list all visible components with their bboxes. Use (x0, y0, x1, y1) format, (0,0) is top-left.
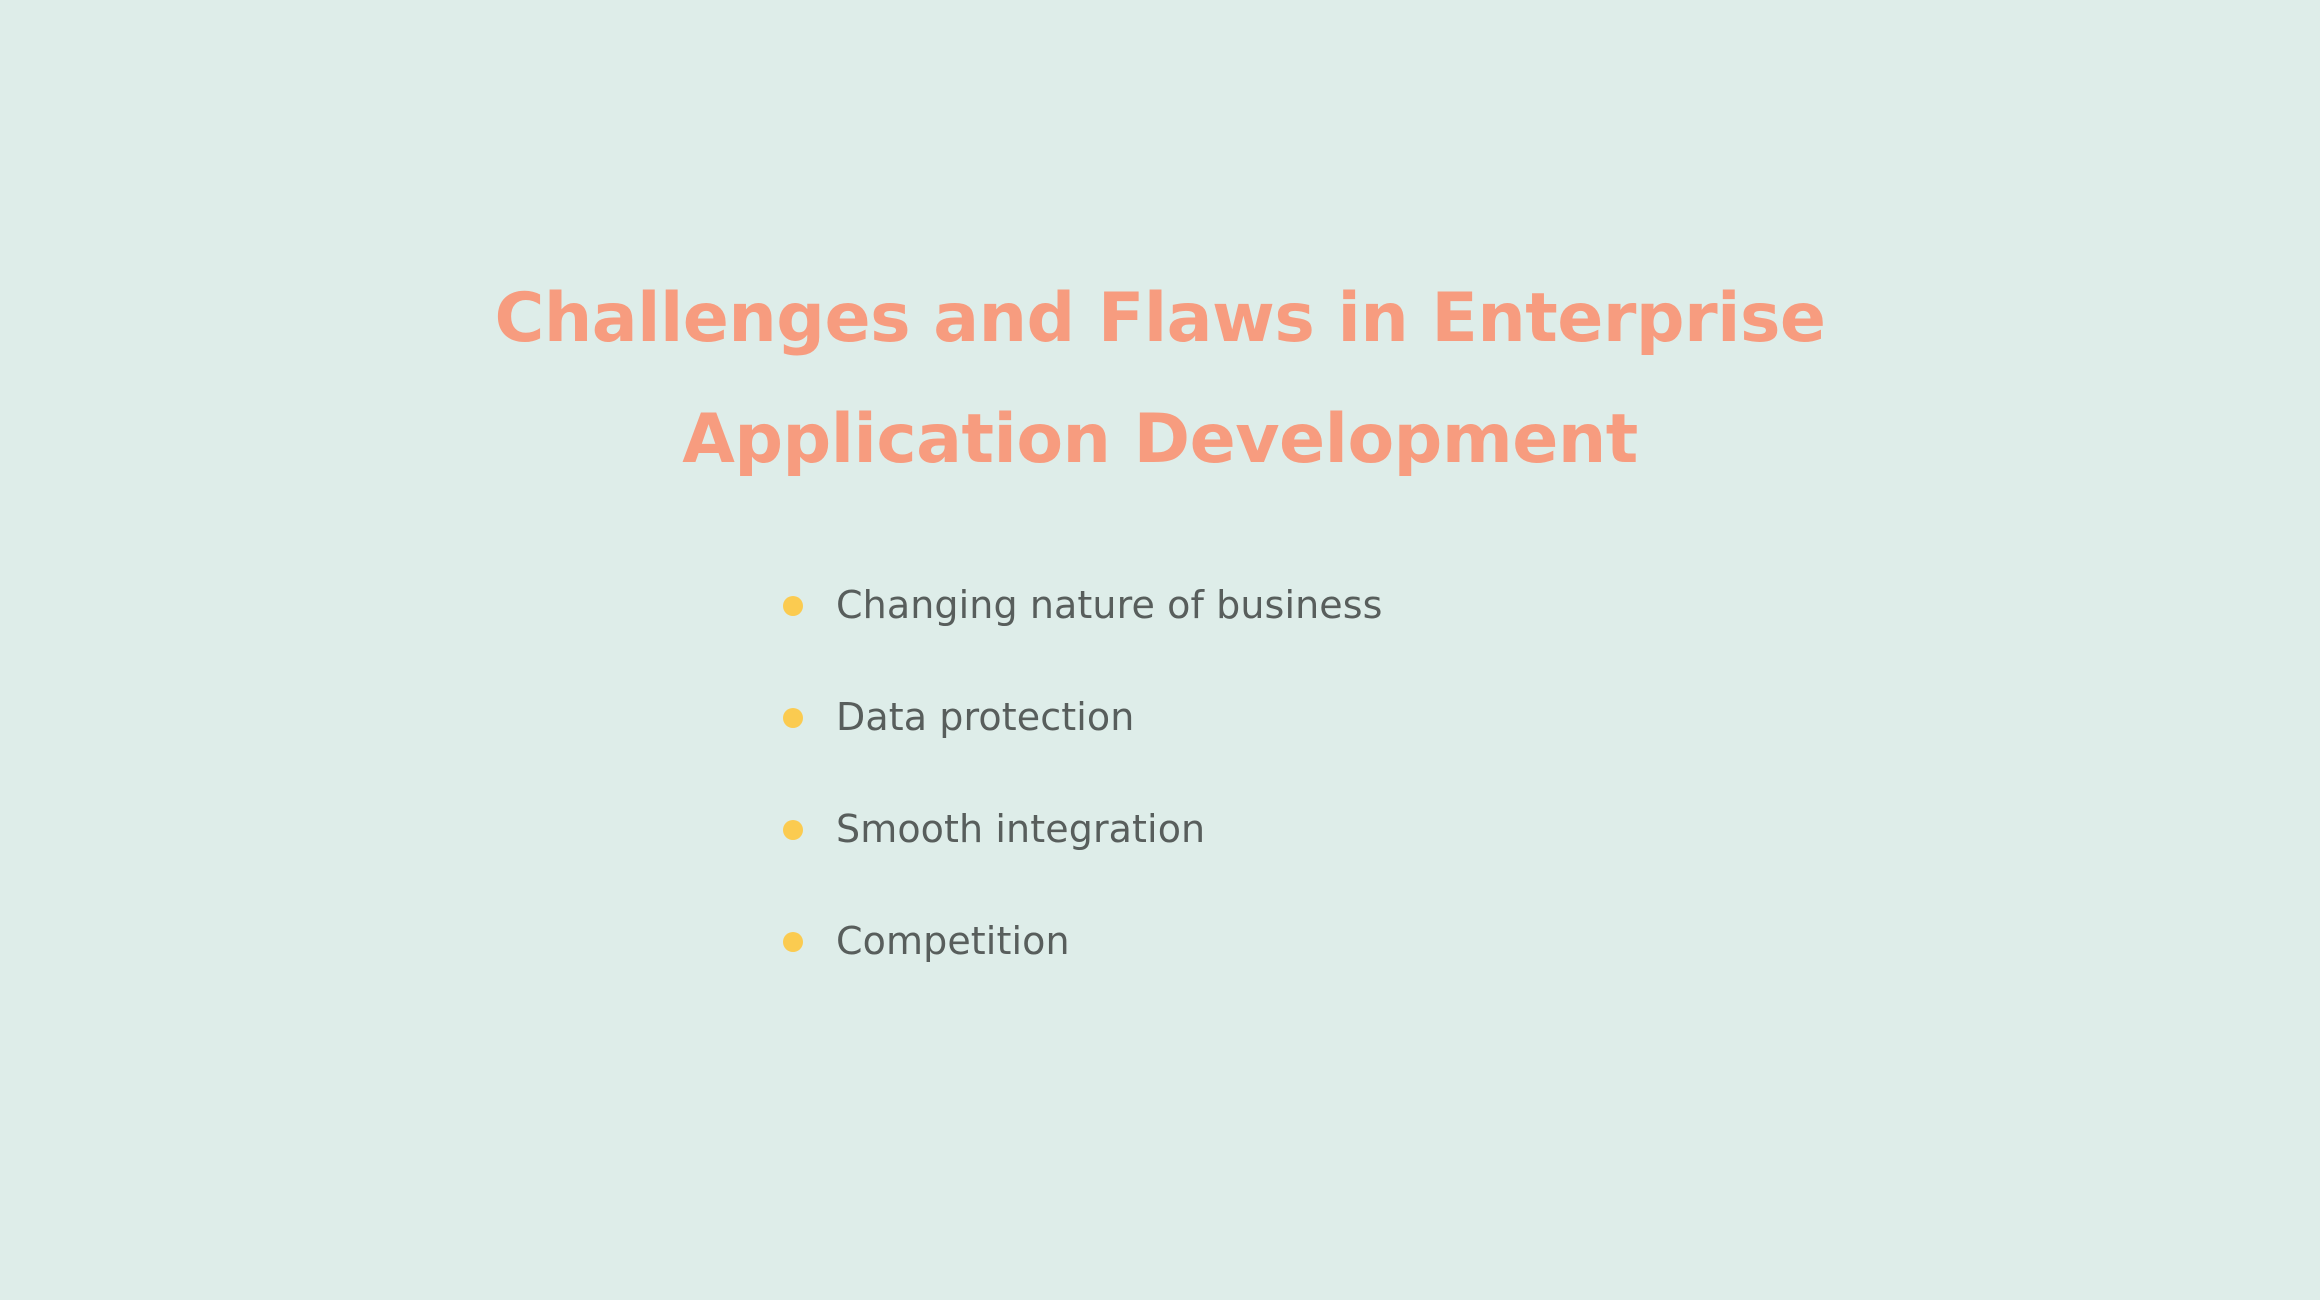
list-item-label: Smooth integration (836, 809, 1205, 851)
list-item: Changing nature of business (783, 578, 2083, 634)
list-item: Data protection (783, 690, 2083, 746)
challenges-bullet-list: Changing nature of business Data protect… (783, 578, 2083, 970)
list-item: Smooth integration (783, 802, 2083, 858)
list-item-label: Data protection (836, 697, 1134, 739)
dot-icon (783, 932, 803, 952)
dot-icon (783, 708, 803, 728)
dot-icon (783, 820, 803, 840)
list-item-label: Competition (836, 921, 1070, 963)
page-title-line-2: Application Development (0, 379, 2320, 500)
slide-canvas: Challenges and Flaws in Enterprise Appli… (0, 0, 2320, 1300)
page-title-line-1: Challenges and Flaws in Enterprise (0, 258, 2320, 379)
list-item-label: Changing nature of business (836, 585, 1383, 627)
dot-icon (783, 596, 803, 616)
list-item: Competition (783, 914, 2083, 970)
page-title: Challenges and Flaws in Enterprise Appli… (0, 258, 2320, 500)
